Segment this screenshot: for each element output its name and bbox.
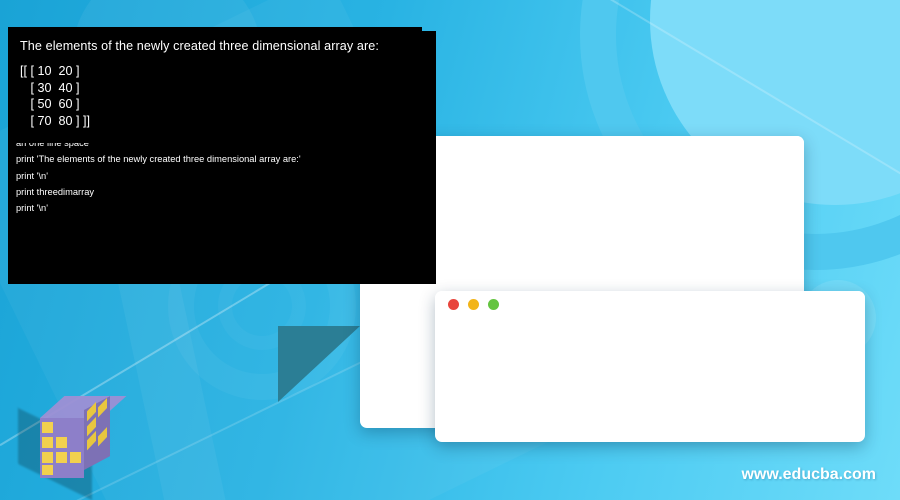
decorative-streak-3 (58, 351, 382, 500)
output-window[interactable] (435, 291, 865, 442)
output-array-line: [ 50 60 ] (20, 96, 422, 113)
cube-illustration (30, 396, 126, 488)
maximize-dot[interactable] (488, 299, 499, 310)
minimize-dot[interactable] (468, 299, 479, 310)
output-array-line: [[ [ 10 20 ] (20, 63, 422, 80)
close-dot[interactable] (448, 299, 459, 310)
output-array-line: [ 70 80 ] ]] (20, 113, 422, 130)
slide-canvas: NumPy 3D array #importing the package nu… (0, 0, 900, 500)
output-heading: The elements of the newly created three … (20, 39, 422, 54)
cube-shadow (18, 408, 92, 500)
cube-face-left (40, 418, 84, 478)
site-watermark: www.educba.com (741, 466, 876, 484)
decorative-triangle (278, 326, 360, 402)
terminal-output-content[interactable]: The elements of the newly created three … (8, 27, 422, 143)
cube-face-right (84, 396, 110, 470)
output-array-line: [ 30 40 ] (20, 80, 422, 97)
cube-face-top (40, 396, 126, 418)
output-window-titlebar[interactable] (435, 291, 865, 318)
output-array-block: [[ [ 10 20 ] [ 30 40 ] [ 50 60 ] [ 70 80… (20, 63, 422, 129)
